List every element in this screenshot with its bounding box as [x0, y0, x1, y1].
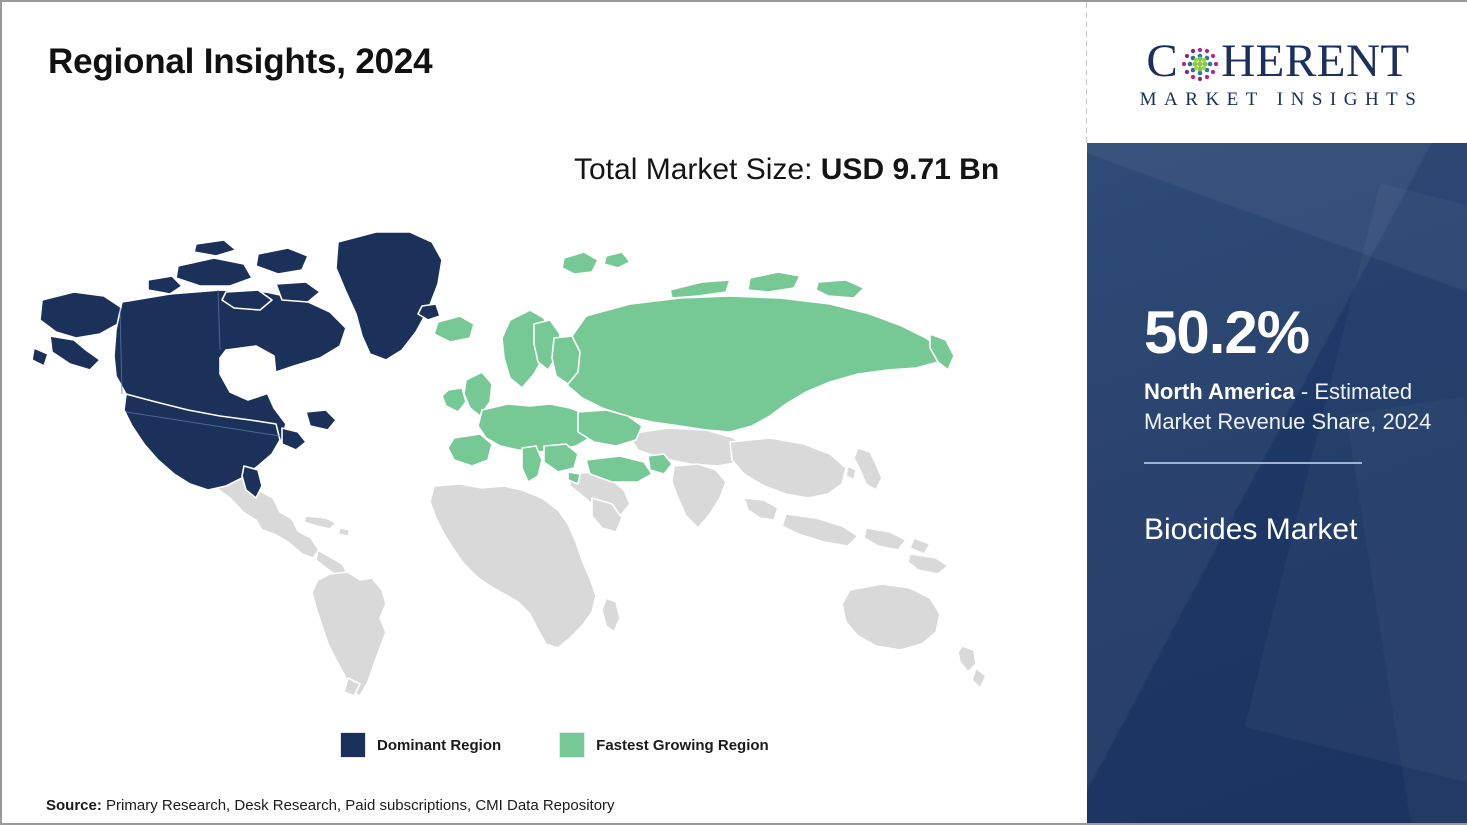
square-swatch-icon [340, 732, 366, 758]
logo-letter-c: C [1146, 38, 1178, 85]
map-pane: Regional Insights, 2024 Total Market Siz… [2, 2, 1087, 825]
map-legend: Dominant Region Fastest Growing Region [340, 732, 769, 758]
market-name: Biocides Market [1144, 510, 1424, 550]
stat-divider-rule [1144, 462, 1362, 464]
logo-block: C [1087, 2, 1467, 143]
map-region-dominant [32, 232, 442, 498]
legend-item-dominant: Dominant Region [340, 732, 501, 758]
legend-label-dominant: Dominant Region [377, 737, 501, 754]
stat-region-name: North America [1144, 379, 1295, 404]
brand-content: 50.2% North America - Estimated Market R… [1144, 303, 1449, 550]
stat-value: 50.2% [1144, 303, 1449, 363]
source-label: Source: [46, 797, 102, 814]
source-text: Primary Research, Desk Research, Paid su… [106, 797, 615, 814]
logo-wordmark: C [1107, 38, 1449, 85]
dotted-globe-icon [1180, 44, 1220, 84]
legend-item-fastest-growing: Fastest Growing Region [559, 732, 769, 758]
logo-tagline: MARKET INSIGHTS [1107, 89, 1449, 111]
square-swatch-icon [559, 732, 585, 758]
legend-label-fastest-growing: Fastest Growing Region [596, 737, 769, 754]
market-size-label: Total Market Size: [574, 153, 812, 186]
source-footer: Source: Primary Research, Desk Research,… [46, 797, 615, 814]
stat-caption: North America - Estimated Market Revenue… [1144, 377, 1446, 438]
regional-insights-infographic: Regional Insights, 2024 Total Market Siz… [0, 0, 1467, 825]
logo-letters-herent: HERENT [1221, 38, 1409, 85]
brand-stat-panel: 50.2% North America - Estimated Market R… [1087, 143, 1467, 825]
brand-pane: C [1087, 2, 1467, 825]
map-region-other [182, 428, 986, 696]
dotted-globe-svg [1180, 44, 1220, 84]
page-title: Regional Insights, 2024 [48, 42, 432, 82]
total-market-size: Total Market Size: USD 9.71 Bn [574, 148, 1020, 192]
world-map-svg [30, 198, 1030, 718]
world-map [30, 198, 1030, 718]
market-size-value: USD 9.71 Bn [821, 153, 999, 186]
